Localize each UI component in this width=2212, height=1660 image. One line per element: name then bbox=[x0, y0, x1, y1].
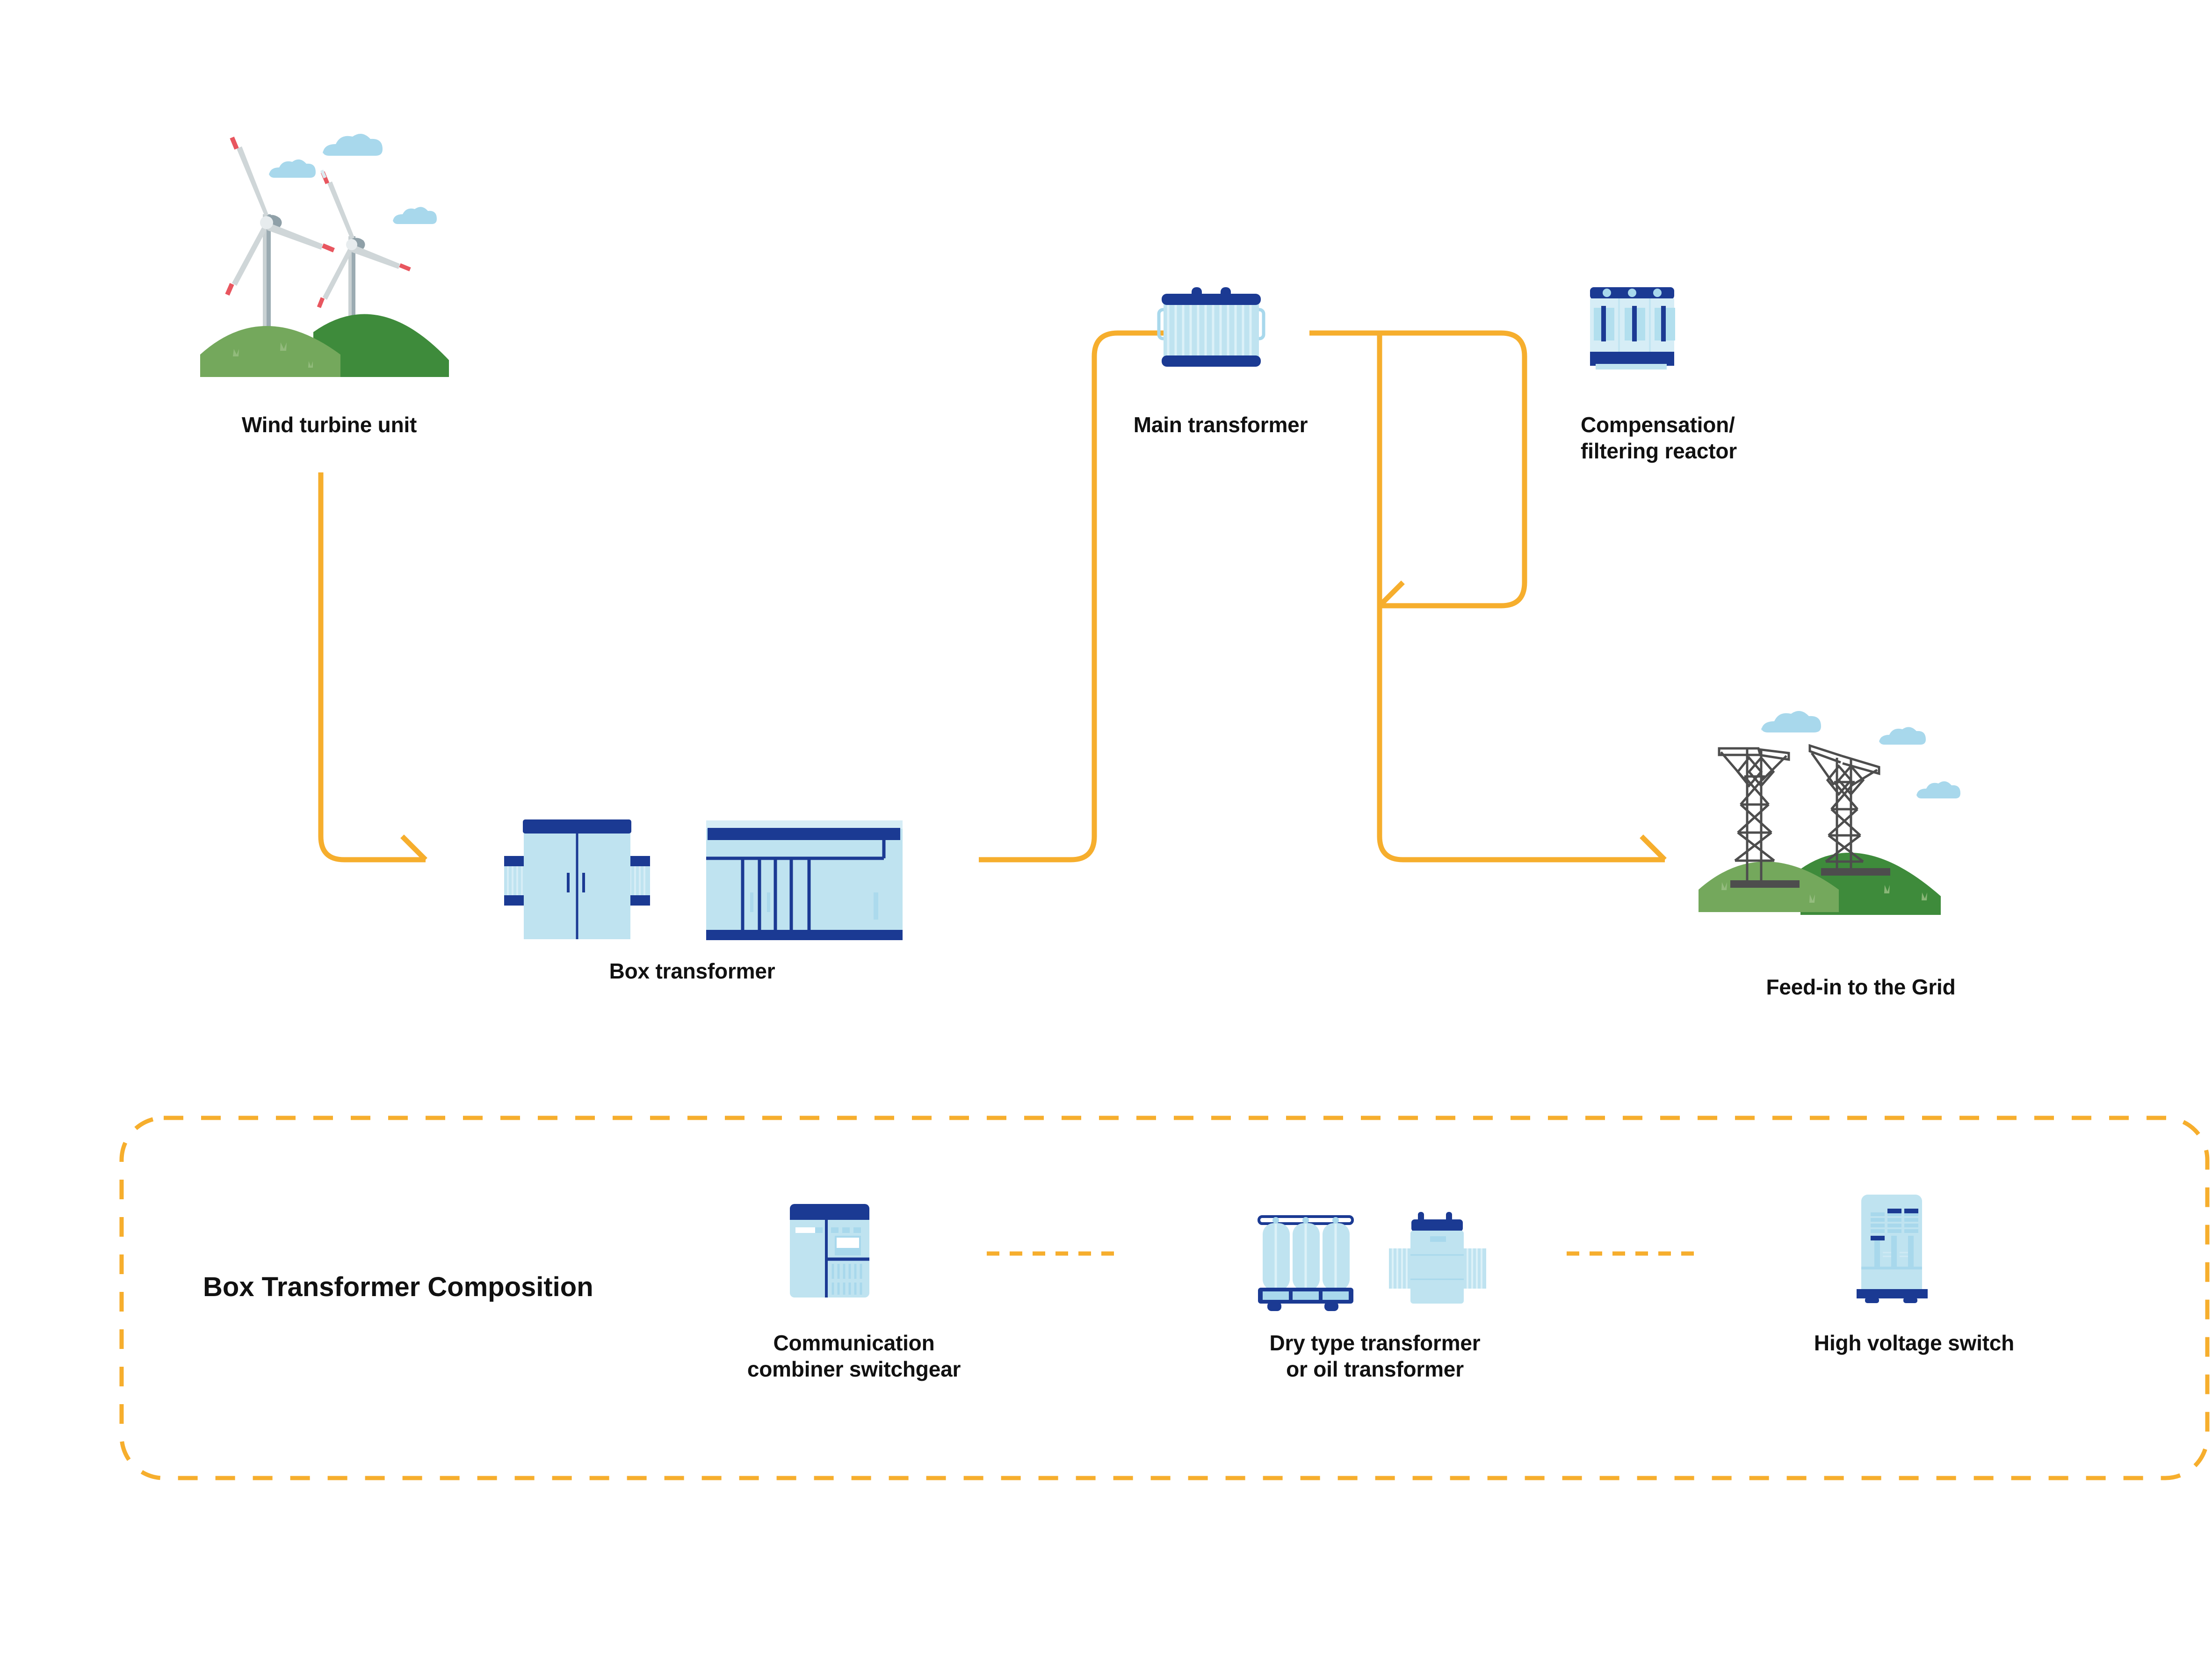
hill-shape bbox=[200, 314, 449, 377]
caption-box-transformer: Box transformer bbox=[609, 958, 775, 984]
box-transformer-left-icon bbox=[504, 819, 650, 939]
node-wind-turbine-unit bbox=[187, 131, 477, 393]
composition-panel-title: Box Transformer Composition bbox=[203, 1271, 593, 1303]
power-pylon-icon bbox=[1810, 746, 1879, 870]
caption-communication-combiner-switchgear: Communication combiner switchgear bbox=[747, 1330, 961, 1382]
power-pylon-icon bbox=[1719, 748, 1789, 882]
oil-transformer-icon bbox=[1389, 1212, 1486, 1304]
caption-high-voltage-switch: High voltage switch bbox=[1814, 1330, 2014, 1356]
node-feed-in-to-the-grid bbox=[1670, 697, 1959, 945]
composition-separator-1 bbox=[987, 1249, 1127, 1258]
connector-compensation-to-grid-arrowhead bbox=[1641, 836, 1665, 860]
item-communication-combiner-switchgear bbox=[788, 1202, 872, 1300]
connector-main-to-compensation-arrowhead bbox=[1380, 582, 1403, 606]
box-transformer-right-icon bbox=[706, 820, 903, 940]
high-voltage-switch-icon bbox=[1857, 1195, 1928, 1303]
item-dry-type-or-oil-transformer bbox=[1244, 1195, 1506, 1298]
compensation-reactor-icon bbox=[1590, 287, 1675, 370]
node-compensation-reactor bbox=[1581, 271, 1702, 393]
caption-wind-turbine-unit: Wind turbine unit bbox=[242, 412, 417, 438]
node-box-transformer bbox=[482, 790, 912, 931]
dry-type-transformer-icon bbox=[1258, 1217, 1353, 1311]
cloud-icon bbox=[269, 134, 437, 224]
node-main-transformer bbox=[1141, 271, 1309, 402]
caption-compensation-reactor: Compensation/ filtering reactor bbox=[1581, 412, 1737, 464]
switchgear-cabinet-icon bbox=[790, 1204, 869, 1298]
connector-turbine-to-box-arrowhead bbox=[402, 836, 426, 860]
item-high-voltage-switch bbox=[1852, 1193, 1941, 1300]
caption-feed-in-to-the-grid: Feed-in to the Grid bbox=[1766, 974, 1955, 1000]
diagram-canvas: Wind turbine unit bbox=[0, 0, 2212, 1660]
cloud-icon bbox=[1761, 711, 1960, 798]
connector-turbine-to-box bbox=[321, 472, 426, 860]
caption-dry-type-or-oil-transformer: Dry type transformer or oil transformer bbox=[1269, 1330, 1480, 1382]
composition-separator-2 bbox=[1567, 1249, 1707, 1258]
connector-main-to-compensation bbox=[1309, 333, 1525, 606]
caption-main-transformer: Main transformer bbox=[1134, 412, 1308, 438]
main-transformer-icon bbox=[1159, 287, 1264, 367]
